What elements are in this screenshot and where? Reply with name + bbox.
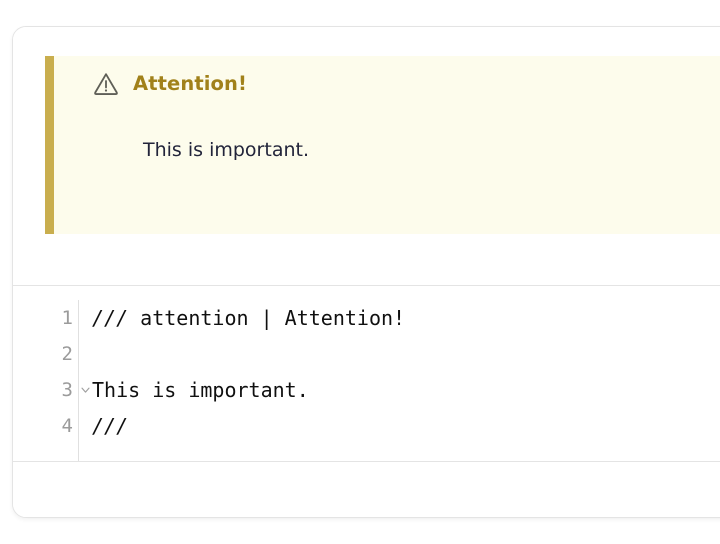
preview-card: Attention! This is important. 1 2 3 [12,26,720,518]
line-number-gutter: 1 2 3 4 [13,300,79,461]
code-token-fence: /// [92,308,128,328]
line-number: 4 [62,417,73,436]
code-line[interactable]: /// attention | Attention! [92,300,720,336]
chevron-down-icon[interactable] [80,385,91,396]
admonition-body-text: This is important. [143,138,309,164]
code-line[interactable]: /// [92,408,720,444]
code-text-area[interactable]: /// attention | Attention! This is impor… [79,300,720,461]
code-line[interactable]: This is important. [92,372,720,408]
code-token-text: attention | Attention! [128,308,405,328]
source-code-pane[interactable]: 1 2 3 4 [13,287,720,462]
screen-root: Attention! This is important. 1 2 3 [0,0,720,544]
gutter-row: 4 [13,408,78,444]
card-footer [13,463,720,517]
code-token-fence: /// [92,416,128,436]
admonition-attention: Attention! This is important. [45,56,720,234]
line-number: 2 [62,345,73,364]
line-number: 3 [62,381,73,400]
gutter-row: 1 [13,300,78,336]
code-line[interactable] [92,336,720,372]
line-number: 1 [62,309,73,328]
gutter-row: 3 [13,372,78,408]
admonition-title: Attention! [133,74,247,94]
rendered-preview-pane: Attention! This is important. [13,27,720,286]
gutter-row: 2 [13,336,78,372]
warning-triangle-icon [92,70,120,98]
code-token-text: This is important. [92,380,309,400]
code-editor[interactable]: 1 2 3 4 [13,300,720,461]
admonition-title-row: Attention! [92,70,247,98]
